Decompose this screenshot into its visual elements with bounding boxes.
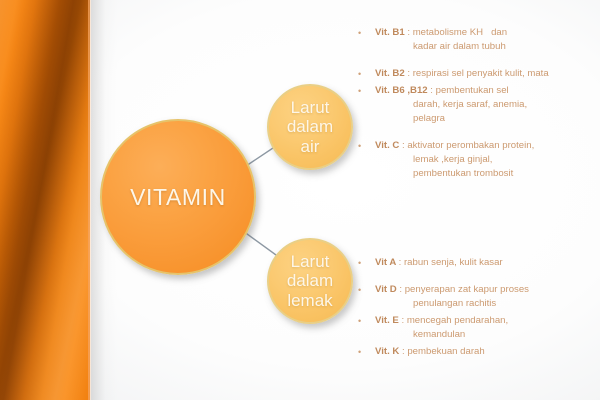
list-item: •Vit D : penyerapan zat kapur prosespenu… (358, 283, 598, 311)
node-larut-lemak-line1: Larut (287, 252, 333, 271)
node-larut-dalam-lemak[interactable]: Larut dalam lemak (267, 238, 353, 324)
node-larut-lemak-line3: lemak (287, 291, 333, 310)
bullet-icon: • (358, 26, 375, 40)
list-item-first-line: Vit. C : aktivator perombakan protein, (375, 139, 598, 153)
list-item-first-line: Vit. K : pembekuan darah (375, 345, 598, 359)
slide-canvas: VITAMIN Larut dalam air Larut dalam lema… (0, 0, 600, 400)
node-larut-air-line2: dalam (287, 117, 333, 136)
list-item: •Vit. C : aktivator perombakan protein,l… (358, 139, 598, 181)
vitamin-description-cont: pelagra (375, 112, 598, 126)
vitamin-description: : penyerapan zat kapur proses (399, 284, 529, 295)
list-item-body: Vit. B1 : metabolisme KH dankadar air da… (375, 26, 598, 54)
bullet-icon: • (358, 67, 375, 81)
list-item-first-line: Vit. B2 : respirasi sel penyakit kulit, … (375, 67, 598, 81)
list-item-first-line: Vit. B6 ,B12 : pembentukan sel (375, 84, 598, 98)
node-vitamin[interactable]: VITAMIN (100, 119, 256, 275)
node-larut-lemak-line2: dalam (287, 271, 333, 290)
list-item: •Vit. K : pembekuan darah (358, 345, 598, 359)
vitamin-description: : aktivator perombakan protein, (402, 140, 534, 151)
list-item-body: Vit A : rabun senja, kulit kasar (375, 256, 598, 270)
connector-main-to-bottom (243, 231, 276, 255)
vitamin-name: Vit. K (375, 346, 402, 357)
vitamin-description: : rabun senja, kulit kasar (399, 257, 503, 268)
bullet-icon: • (358, 283, 375, 297)
list-item-first-line: Vit. B1 : metabolisme KH dan (375, 26, 598, 40)
vitamin-description-cont: kadar air dalam tubuh (375, 40, 598, 54)
list-item: •Vit. B6 ,B12 : pembentukan seldarah, ke… (358, 84, 598, 126)
list-item: •Vit. B2 : respirasi sel penyakit kulit,… (358, 67, 598, 81)
vitamin-description-cont: lemak ,kerja ginjal, (375, 153, 598, 167)
list-spacer (358, 126, 598, 139)
list-item-first-line: Vit. E : mencegah pendarahan, (375, 314, 598, 328)
list-item: •Vit. B1 : metabolisme KH dankadar air d… (358, 26, 598, 54)
bullet-icon: • (358, 256, 375, 270)
list-item: •Vit A : rabun senja, kulit kasar (358, 256, 598, 270)
list-item: •Vit. E : mencegah pendarahan,kemandulan (358, 314, 598, 342)
vitamin-description: : metabolisme KH dan (407, 27, 507, 38)
vitamin-name: Vit. E (375, 315, 401, 326)
vitamin-name: Vit. B1 (375, 27, 407, 38)
fat-soluble-vitamin-list: •Vit A : rabun senja, kulit kasar•Vit D … (358, 256, 598, 359)
list-item-body: Vit. B6 ,B12 : pembentukan seldarah, ker… (375, 84, 598, 126)
node-vitamin-label: VITAMIN (130, 184, 226, 211)
list-item-body: Vit. C : aktivator perombakan protein,le… (375, 139, 598, 181)
list-item-body: Vit D : penyerapan zat kapur prosespenul… (375, 283, 598, 311)
list-spacer (358, 270, 598, 283)
list-item-body: Vit. B2 : respirasi sel penyakit kulit, … (375, 67, 598, 81)
vitamin-description: : pembekuan darah (402, 346, 485, 357)
vitamin-name: Vit. C (375, 140, 402, 151)
vitamin-name: Vit D (375, 284, 399, 295)
vitamin-description-cont: kemandulan (375, 328, 598, 342)
vitamin-description: : respirasi sel penyakit kulit, mata (407, 68, 548, 79)
vitamin-description-cont: penulangan rachitis (375, 297, 598, 311)
vitamin-name: Vit. B6 ,B12 (375, 85, 430, 96)
node-larut-air-line1: Larut (287, 98, 333, 117)
node-larut-dalam-air[interactable]: Larut dalam air (267, 84, 353, 170)
list-item-body: Vit. K : pembekuan darah (375, 345, 598, 359)
node-larut-air-line3: air (287, 137, 333, 156)
bullet-icon: • (358, 345, 375, 359)
vitamin-description-cont: darah, kerja saraf, anemia, (375, 98, 598, 112)
vitamin-description: : pembentukan sel (430, 85, 508, 96)
list-item-body: Vit. E : mencegah pendarahan,kemandulan (375, 314, 598, 342)
vitamin-description: : mencegah pendarahan, (401, 315, 508, 326)
left-orange-band (0, 0, 90, 400)
list-item-first-line: Vit A : rabun senja, kulit kasar (375, 256, 598, 270)
vitamin-name: Vit. B2 (375, 68, 407, 79)
bullet-icon: • (358, 314, 375, 328)
list-item-first-line: Vit D : penyerapan zat kapur proses (375, 283, 598, 297)
water-soluble-vitamin-list: •Vit. B1 : metabolisme KH dankadar air d… (358, 26, 598, 181)
left-band-sheen (0, 0, 90, 400)
bullet-icon: • (358, 84, 375, 98)
vitamin-name: Vit A (375, 257, 399, 268)
bullet-icon: • (358, 139, 375, 153)
list-spacer (358, 54, 598, 67)
vitamin-description-cont: pembentukan trombosit (375, 167, 598, 181)
